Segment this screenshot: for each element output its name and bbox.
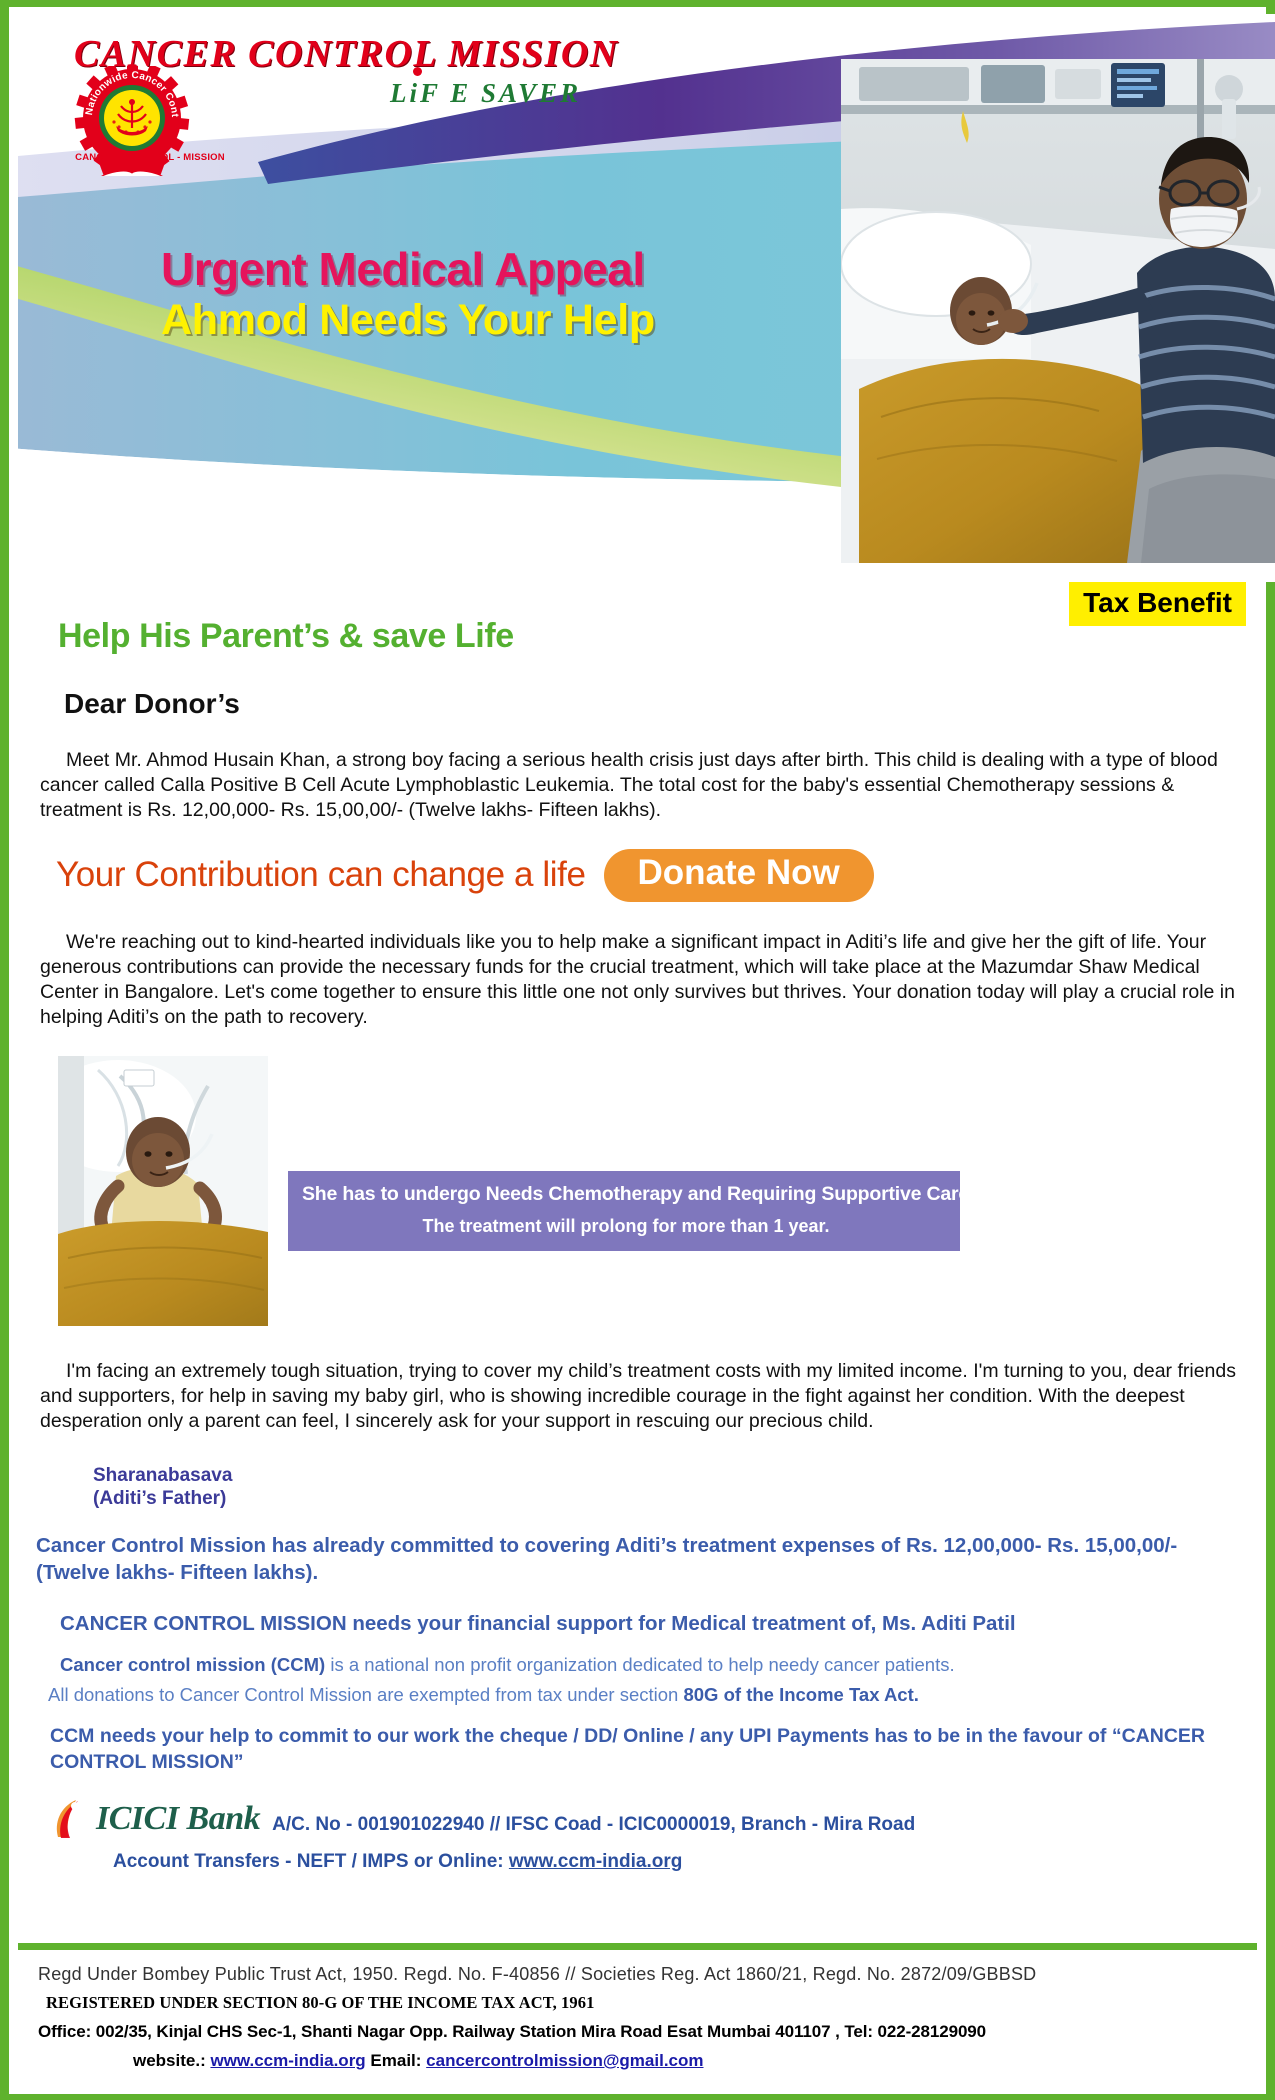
baby-photo	[58, 1056, 268, 1326]
org-tagline: LiF E SAVER	[390, 78, 581, 109]
footer-email-label: Email:	[366, 2051, 426, 2070]
photo-and-callout-block: She has to undergo Needs Chemotherapy an…	[18, 1056, 1275, 1331]
org-tagline-pre: L	[390, 78, 410, 108]
icici-bank-name: ICICI Bank	[96, 1802, 260, 1836]
ccm-description-bold: Cancer control mission (CCM)	[60, 1654, 325, 1675]
footer-website-label: website.:	[133, 2051, 210, 2070]
donate-now-button[interactable]: Donate Now	[604, 849, 874, 902]
support-statement: CANCER CONTROL MISSION needs your financ…	[60, 1612, 1275, 1636]
appeal-paragraph-2-text: We're reaching out to kind-hearted indiv…	[40, 931, 1235, 1028]
org-tagline-post: F E SAVER	[420, 78, 581, 108]
ccm-description-rest: is a national non profit organization de…	[325, 1654, 954, 1675]
hero-headline: Urgent Medical Appeal	[161, 242, 645, 296]
flyer-page: CANCER CONTROL MISSION LiF E SAVER	[0, 0, 1275, 2100]
callout-line-2: The treatment will prolong for more than…	[302, 1216, 950, 1237]
treatment-callout-box: She has to undergo Needs Chemotherapy an…	[288, 1171, 960, 1251]
bank-transfer-line: Account Transfers - NEFT / IMPS or Onlin…	[113, 1851, 1275, 1873]
callout-line-1: She has to undergo Needs Chemotherapy an…	[302, 1183, 950, 1206]
contribution-row: Your Contribution can change a life Dona…	[56, 849, 1275, 902]
appeal-paragraph-1: Meet Mr. Ahmod Husain Khan, a strong boy…	[40, 748, 1253, 823]
cheque-instruction: CCM needs your help to commit to our wor…	[50, 1723, 1253, 1775]
footer: Regd Under Bombey Public Trust Act, 1950…	[18, 1943, 1257, 2088]
icici-mark-icon	[52, 1797, 92, 1841]
icici-logo: ICICI Bank	[52, 1797, 260, 1841]
contribution-text: Your Contribution can change a life	[56, 855, 586, 895]
footer-contact: website.: www.ccm-india.org Email: cance…	[133, 2051, 1249, 2071]
appeal-paragraph-2: We're reaching out to kind-hearted indiv…	[40, 930, 1253, 1030]
appeal-paragraph-3: I'm facing an extremely tough situation,…	[40, 1359, 1253, 1434]
bank-details-row: ICICI Bank A/C. No - 001901022940 // IFS…	[52, 1797, 1275, 1841]
bank-transfer-url[interactable]: www.ccm-india.org	[509, 1851, 683, 1872]
logo-caption: CANCER - CONTROL - MISSION	[70, 152, 230, 163]
footer-office: Office: 002/35, Kinjal CHS Sec-1, Shanti…	[38, 2022, 1249, 2042]
salutation: Dear Donor’s	[64, 688, 1275, 720]
footer-email[interactable]: cancercontrolmission@gmail.com	[426, 2051, 703, 2070]
tax-exemption-bold: 80G of the Income Tax Act.	[683, 1684, 918, 1705]
tax-exemption-pre: All donations to Cancer Control Mission …	[48, 1684, 683, 1705]
commitment-statement: Cancer Control Mission has already commi…	[36, 1532, 1253, 1586]
appeal-paragraph-3-text: I'm facing an extremely tough situation,…	[40, 1360, 1236, 1432]
footer-website-url[interactable]: www.ccm-india.org	[210, 2051, 365, 2070]
tax-benefit-badge: Tax Benefit	[1069, 582, 1246, 626]
footer-registration: Regd Under Bombey Public Trust Act, 1950…	[38, 1964, 1249, 1985]
bank-account-line: A/C. No - 001901022940 // IFSC Coad - IC…	[272, 1814, 915, 1841]
ccm-description: Cancer control mission (CCM) is a nation…	[60, 1652, 1275, 1677]
org-tagline-i: i	[410, 78, 421, 108]
signature-name: Sharanabasava	[93, 1464, 1275, 1487]
tax-exemption-note: All donations to Cancer Control Mission …	[48, 1682, 1275, 1707]
footer-80g: REGISTERED UNDER SECTION 80-G OF THE INC…	[46, 1993, 1249, 2013]
hero-photo-father-and-child	[841, 59, 1275, 563]
hero-subheadline: Ahmod Needs Your Help	[161, 296, 655, 345]
hero-section: CANCER CONTROL MISSION LiF E SAVER	[18, 14, 1275, 582]
signature-block: Sharanabasava (Aditi’s Father)	[93, 1464, 1275, 1510]
appeal-paragraph-1-text: Meet Mr. Ahmod Husain Khan, a strong boy…	[40, 749, 1218, 821]
signature-relation: (Aditi’s Father)	[93, 1487, 1275, 1510]
bank-transfer-label: Account Transfers - NEFT / IMPS or Onlin…	[113, 1851, 509, 1872]
appeal-body: Help His Parent’s & save Life Dear Donor…	[18, 582, 1275, 1873]
